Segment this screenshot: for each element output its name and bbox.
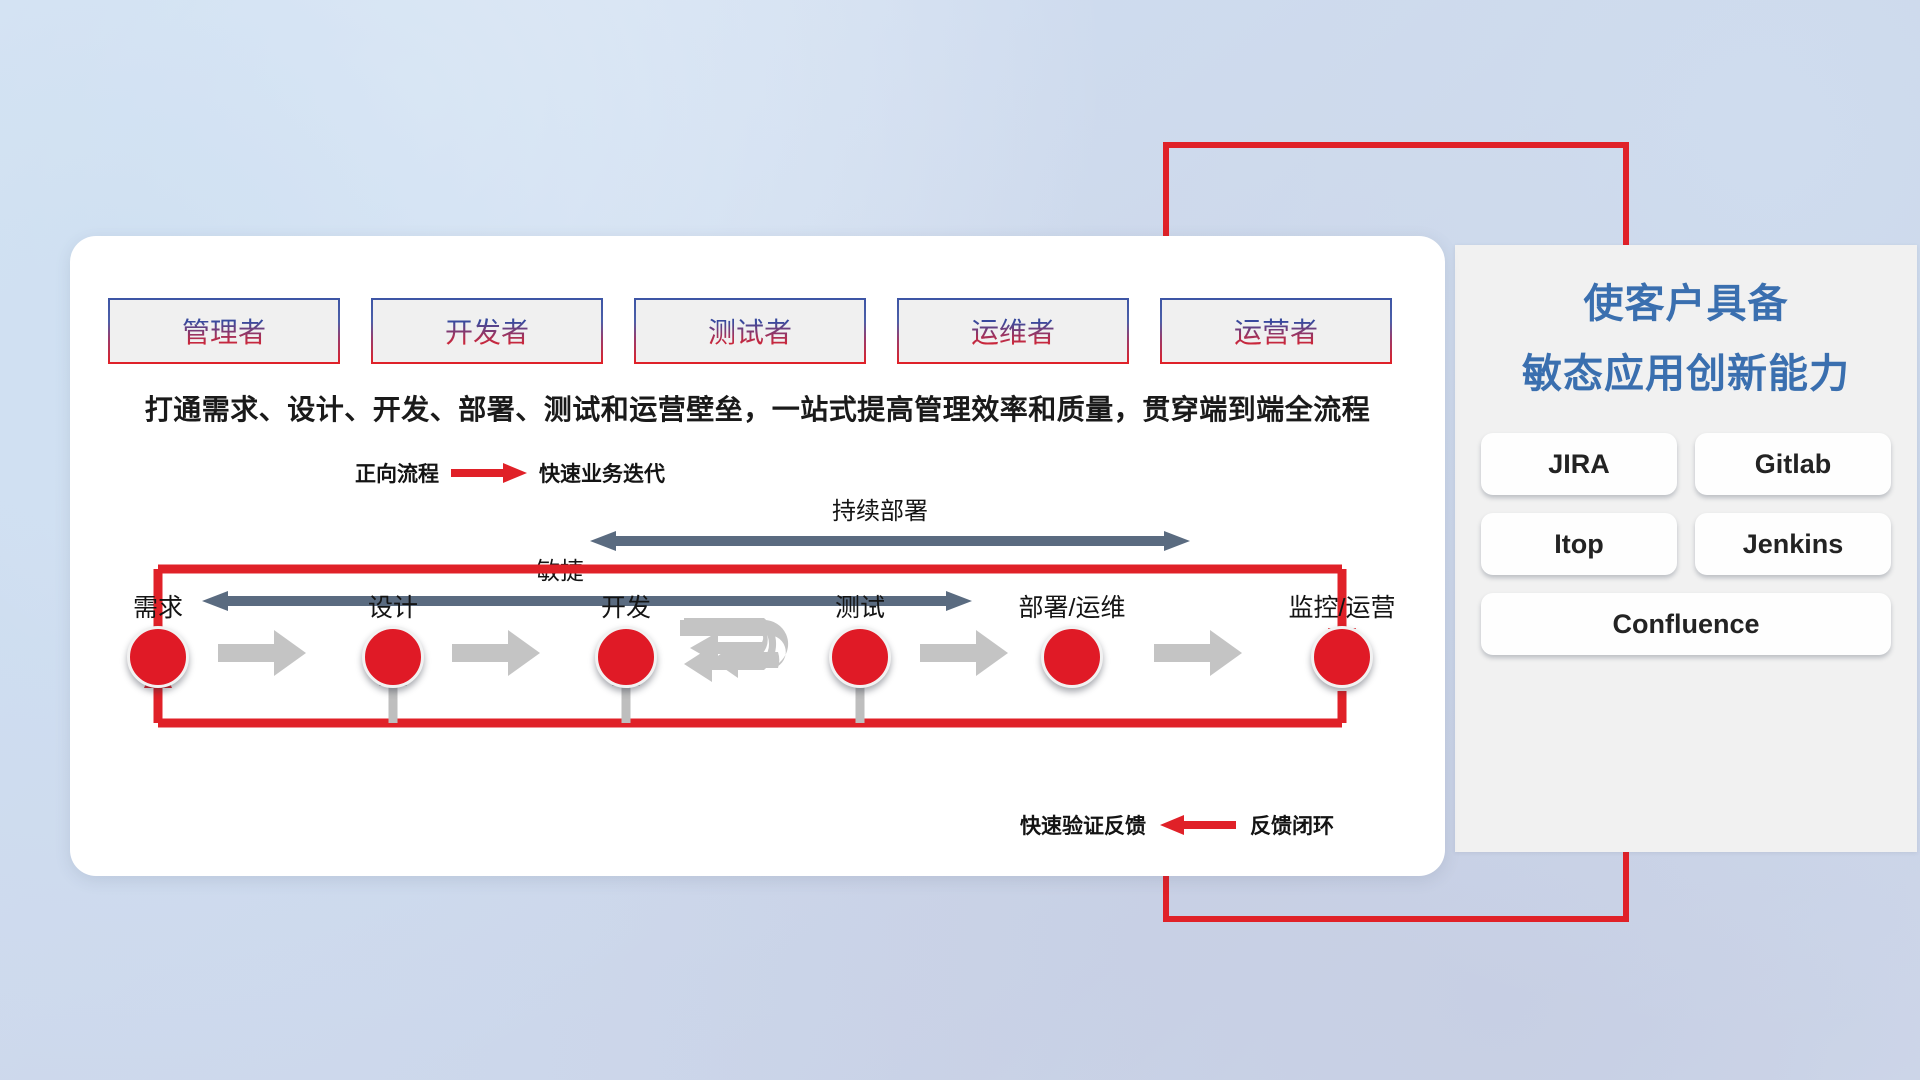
- tool-chip-jira[interactable]: JIRA: [1481, 433, 1677, 495]
- tools-panel: 使客户具备 敏态应用创新能力 JIRA Gitlab Itop Jenkins …: [1455, 245, 1917, 852]
- pipeline-stage-deploy-ops[interactable]: 部署/运维: [982, 588, 1162, 688]
- pipeline-stage-dot: [127, 626, 189, 688]
- tool-chip-confluence[interactable]: Confluence: [1481, 593, 1891, 655]
- tool-chip-grid: JIRA Gitlab Itop Jenkins Confluence: [1481, 433, 1891, 655]
- pipeline-stage-dot: [362, 626, 424, 688]
- tool-chip-jenkins[interactable]: Jenkins: [1695, 513, 1891, 575]
- pipeline-stage-label: 监控/运营: [1252, 588, 1432, 624]
- tool-chip-gitlab[interactable]: Gitlab: [1695, 433, 1891, 495]
- pipeline-stage-dot: [1041, 626, 1103, 688]
- pipeline-stage-label: 设计: [303, 588, 483, 624]
- pipeline-stage-monitor-operations[interactable]: 监控/运营: [1252, 588, 1432, 688]
- pipeline: 需求 设计 开发 测试 部署/运维 监控/运营: [70, 236, 1445, 876]
- block-arrow-right-icon-3: [920, 630, 1008, 676]
- pipeline-stage-dot: [595, 626, 657, 688]
- devops-diagram-card: 管理者 开发者 测试者 运维者 运营者 打通需求、设计、开发、部署、测试和运营壁…: [70, 236, 1445, 876]
- panel-headline-line1: 使客户具备: [1481, 275, 1891, 333]
- loop-arrow-cycle-icon: [678, 618, 802, 688]
- pipeline-stage-dot: [829, 626, 891, 688]
- tool-chip-itop[interactable]: Itop: [1481, 513, 1677, 575]
- pipeline-stage-dot: [1311, 626, 1373, 688]
- panel-headline-line2: 敏态应用创新能力: [1481, 345, 1891, 403]
- pipeline-stage-label: 需求: [68, 588, 248, 624]
- block-arrow-right-icon-2: [452, 630, 540, 676]
- panel-headline: 使客户具备 敏态应用创新能力: [1481, 275, 1891, 403]
- block-arrow-right-icon-1: [218, 630, 306, 676]
- block-arrow-right-icon-4: [1154, 630, 1242, 676]
- pipeline-stage-label: 部署/运维: [982, 588, 1162, 624]
